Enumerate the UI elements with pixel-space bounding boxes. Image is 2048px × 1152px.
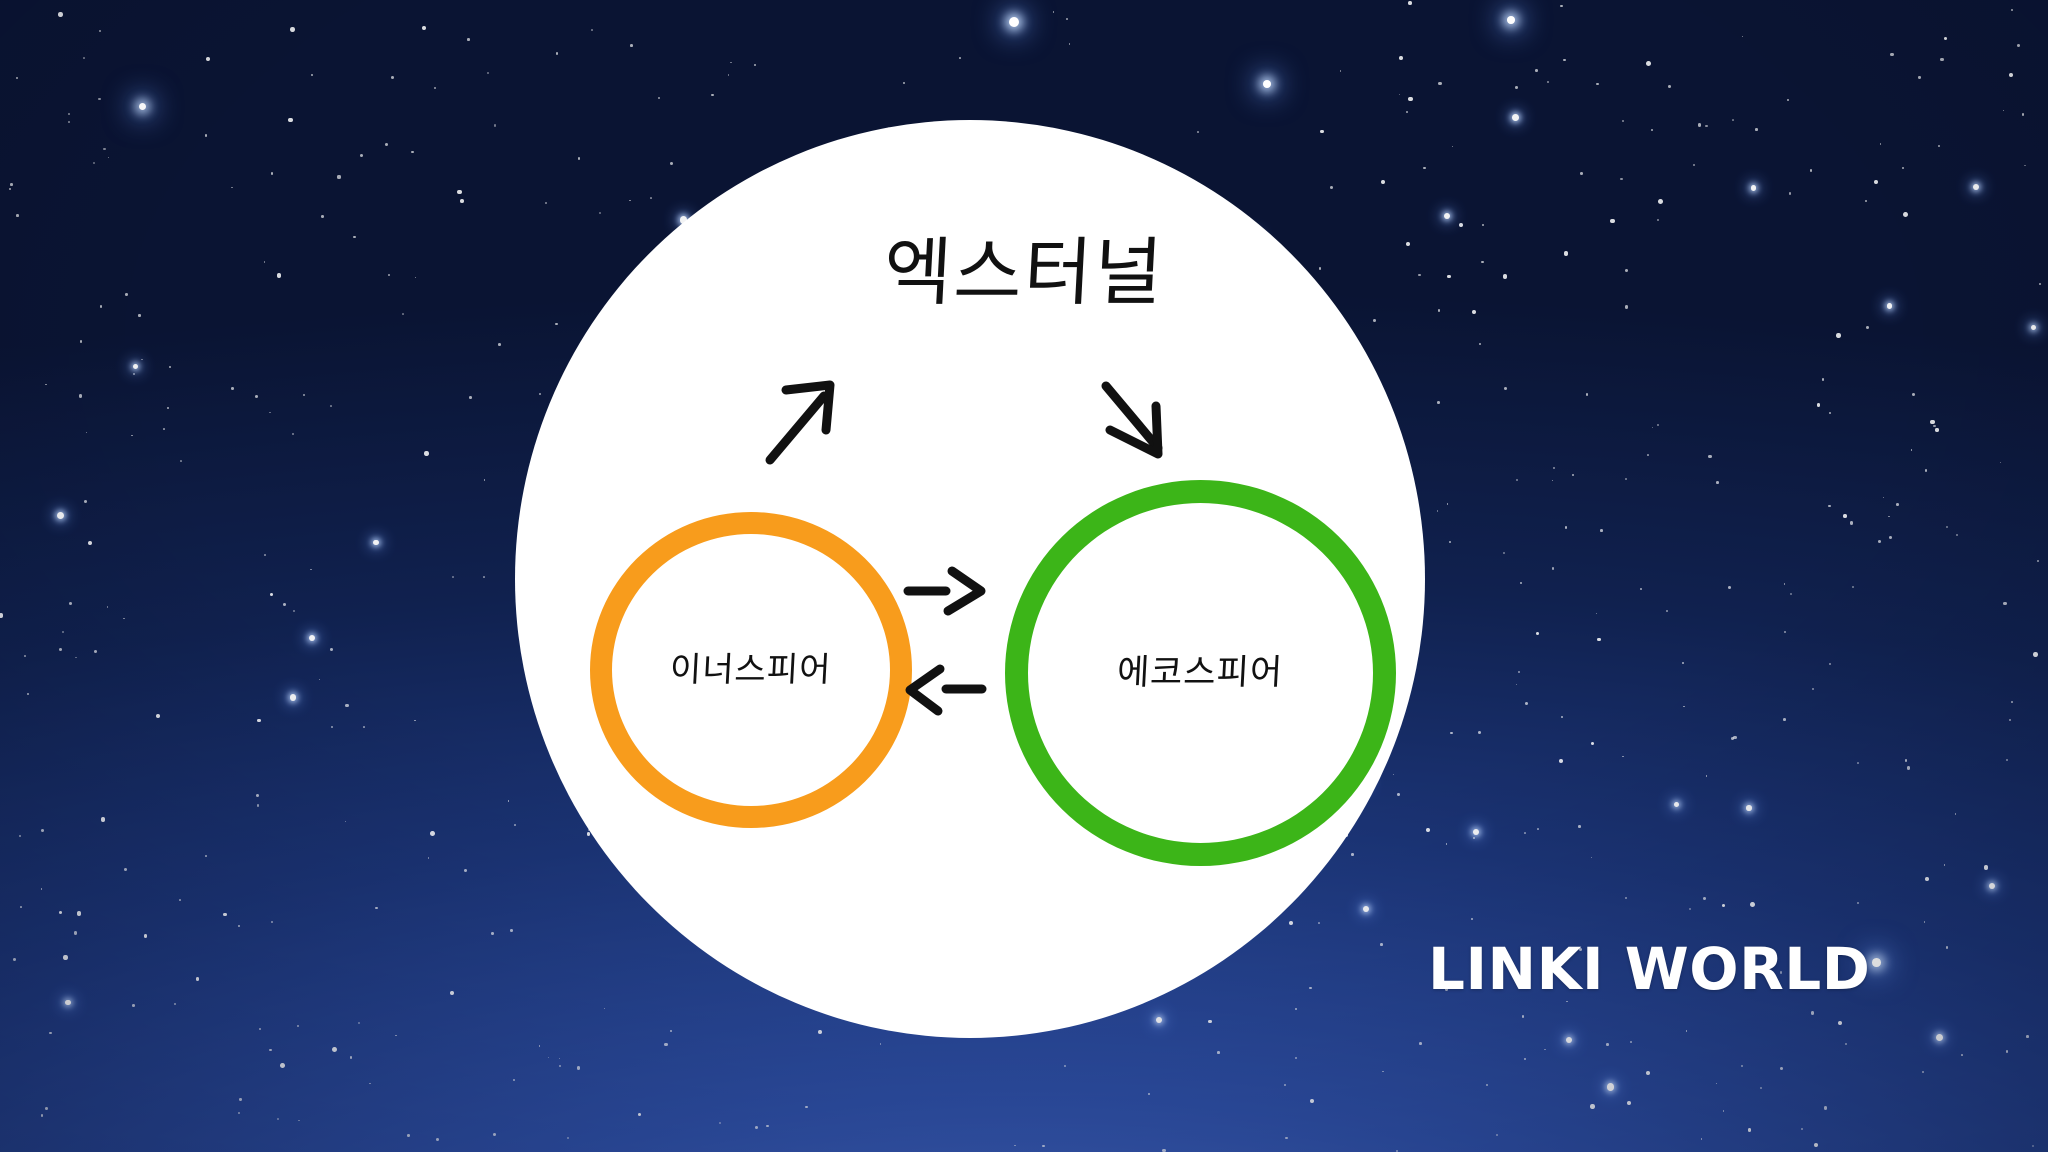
arrow-up-right-icon xyxy=(752,368,882,478)
arrow-down-right-icon xyxy=(1092,368,1222,478)
inner-sphere-shape[interactable]: 이너스피어 xyxy=(590,512,912,828)
external-sphere-label: 엑스터널 xyxy=(0,236,2048,310)
eco-sphere-label: 에코스피어 xyxy=(1117,656,1285,691)
arrow-left-icon xyxy=(910,669,982,711)
slide-canvas: 엑스터널 이너스피어 에코스피어 xyxy=(0,0,2048,1152)
exchange-arrows-group xyxy=(880,555,1080,745)
inner-sphere-label: 이너스피어 xyxy=(669,653,832,687)
brand-watermark: LINKI WORLD xyxy=(1428,940,1870,998)
arrow-right-icon xyxy=(908,571,981,611)
